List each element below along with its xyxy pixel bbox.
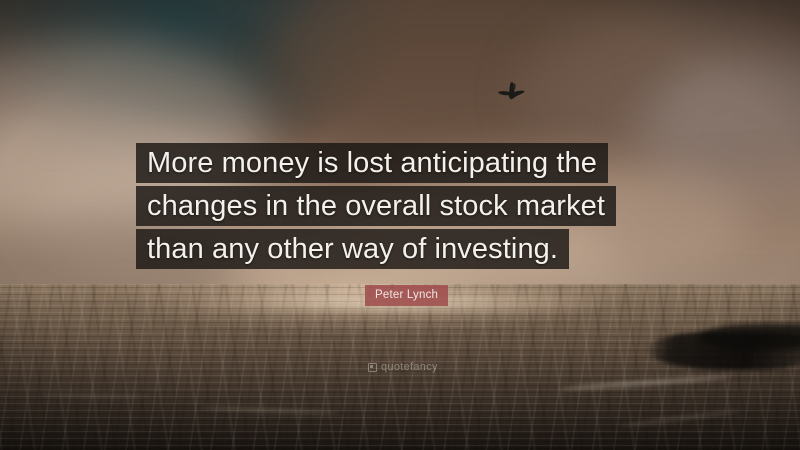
bird-silhouette-icon — [494, 80, 528, 104]
quote-line-3: than any other way of investing. — [136, 229, 569, 269]
quote-line-1: More money is lost anticipating the — [136, 143, 608, 183]
watermark-brand-text: quotefancy — [381, 362, 438, 373]
quote-poster: More money is lost anticipating the chan… — [0, 0, 800, 450]
quote-line-2: changes in the overall stock market — [136, 186, 616, 226]
quote-text-block: More money is lost anticipating the chan… — [0, 143, 800, 272]
reef-rocks-secondary — [700, 324, 800, 350]
watermark: quotefancy — [368, 362, 438, 373]
quotefancy-logo-icon — [368, 363, 377, 372]
author-attribution-badge: Peter Lynch — [365, 285, 448, 306]
